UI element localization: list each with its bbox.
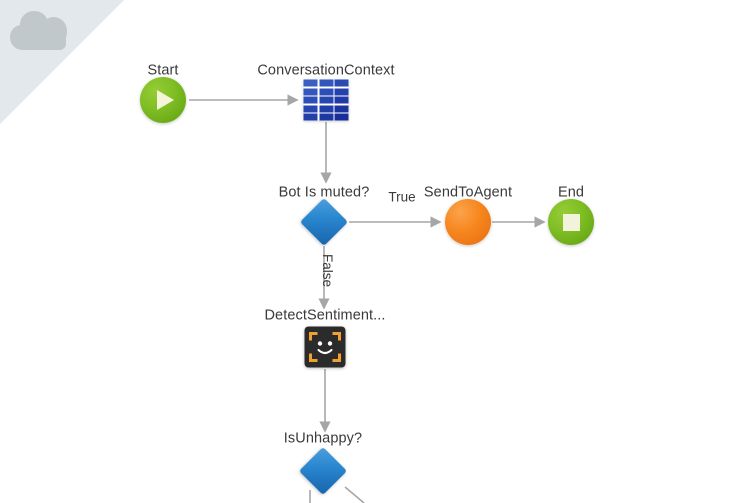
- node-label-end: End: [558, 186, 584, 201]
- grid-cell: [304, 80, 318, 87]
- grid-cell: [319, 88, 333, 95]
- grid-cell: [319, 105, 333, 112]
- grid-cell: [304, 105, 318, 112]
- node-send-to-agent[interactable]: [445, 199, 491, 245]
- edge-unhappy-branch-right: [345, 487, 364, 503]
- node-end[interactable]: [548, 199, 594, 245]
- stop-icon: [563, 214, 580, 231]
- flow-diagram-canvas: True False Start ConversationContext Bot…: [0, 0, 750, 503]
- grid-cell: [335, 88, 349, 95]
- grid-cell: [335, 97, 349, 104]
- grid-cell: [319, 80, 333, 87]
- node-start[interactable]: [140, 77, 186, 123]
- grid-cell: [319, 114, 333, 121]
- play-icon: [157, 90, 174, 110]
- grid-cell: [304, 97, 318, 104]
- edge-label-false: False: [321, 254, 335, 287]
- grid-cell: [335, 80, 349, 87]
- grid-cell: [335, 105, 349, 112]
- grid-cell: [304, 114, 318, 121]
- node-label-detect-sentiment: DetectSentiment...: [264, 309, 385, 324]
- grid-cell: [304, 88, 318, 95]
- node-label-conversation-context: ConversationContext: [257, 64, 394, 79]
- grid-cell: [335, 114, 349, 121]
- grid-cell: [319, 97, 333, 104]
- node-label-is-unhappy: IsUnhappy?: [284, 432, 362, 447]
- node-label-start: Start: [147, 64, 178, 79]
- face-detect-icon: [305, 327, 346, 368]
- node-detect-sentiment[interactable]: [305, 327, 346, 368]
- node-conversation-context[interactable]: [304, 80, 349, 121]
- edge-label-true: True: [388, 191, 415, 205]
- node-label-send-to-agent: SendToAgent: [424, 186, 512, 201]
